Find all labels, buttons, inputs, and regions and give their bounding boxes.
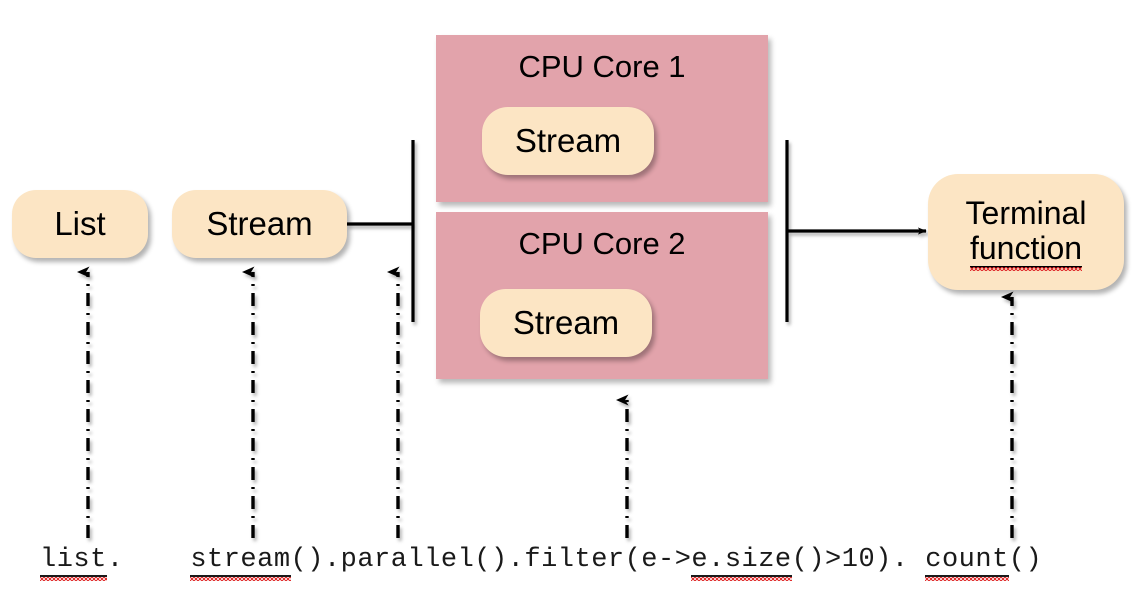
- code-token-1: .: [107, 545, 124, 575]
- code-token-5: e.size: [691, 545, 791, 577]
- node-terminal-line2: function: [970, 231, 1082, 269]
- code-token-6: ()>10).: [792, 545, 926, 575]
- node-stream-source: Stream: [172, 190, 347, 258]
- node-list: List: [12, 190, 148, 258]
- code-caption: list. stream().parallel().filter(e->e.si…: [40, 545, 1042, 577]
- code-token-2: [124, 545, 191, 575]
- node-stream-core2-label: Stream: [513, 305, 619, 341]
- code-token-7: count: [925, 545, 1009, 577]
- node-stream-core1-label: Stream: [515, 123, 621, 159]
- node-terminal-line1: Terminal: [966, 196, 1087, 231]
- wire-stream-to-fork: [347, 140, 413, 322]
- code-token-0: list: [40, 545, 107, 577]
- node-list-label: List: [54, 206, 105, 242]
- cpu-core-2-title: CPU Core 2: [436, 226, 768, 262]
- code-token-8: (): [1009, 545, 1042, 575]
- node-stream-core1: Stream: [482, 107, 654, 175]
- node-terminal-function: Terminal function: [928, 174, 1124, 290]
- node-stream-core2: Stream: [480, 289, 652, 357]
- code-token-4: ().parallel().filter(e->: [291, 545, 692, 575]
- diagram-canvas: CPU Core 1 CPU Core 2 List Stream Stream…: [0, 0, 1135, 607]
- wire-join-to-terminal: [787, 140, 926, 322]
- cpu-core-1-title: CPU Core 1: [436, 49, 768, 85]
- code-token-3: stream: [190, 545, 290, 577]
- node-stream-source-label: Stream: [206, 206, 312, 242]
